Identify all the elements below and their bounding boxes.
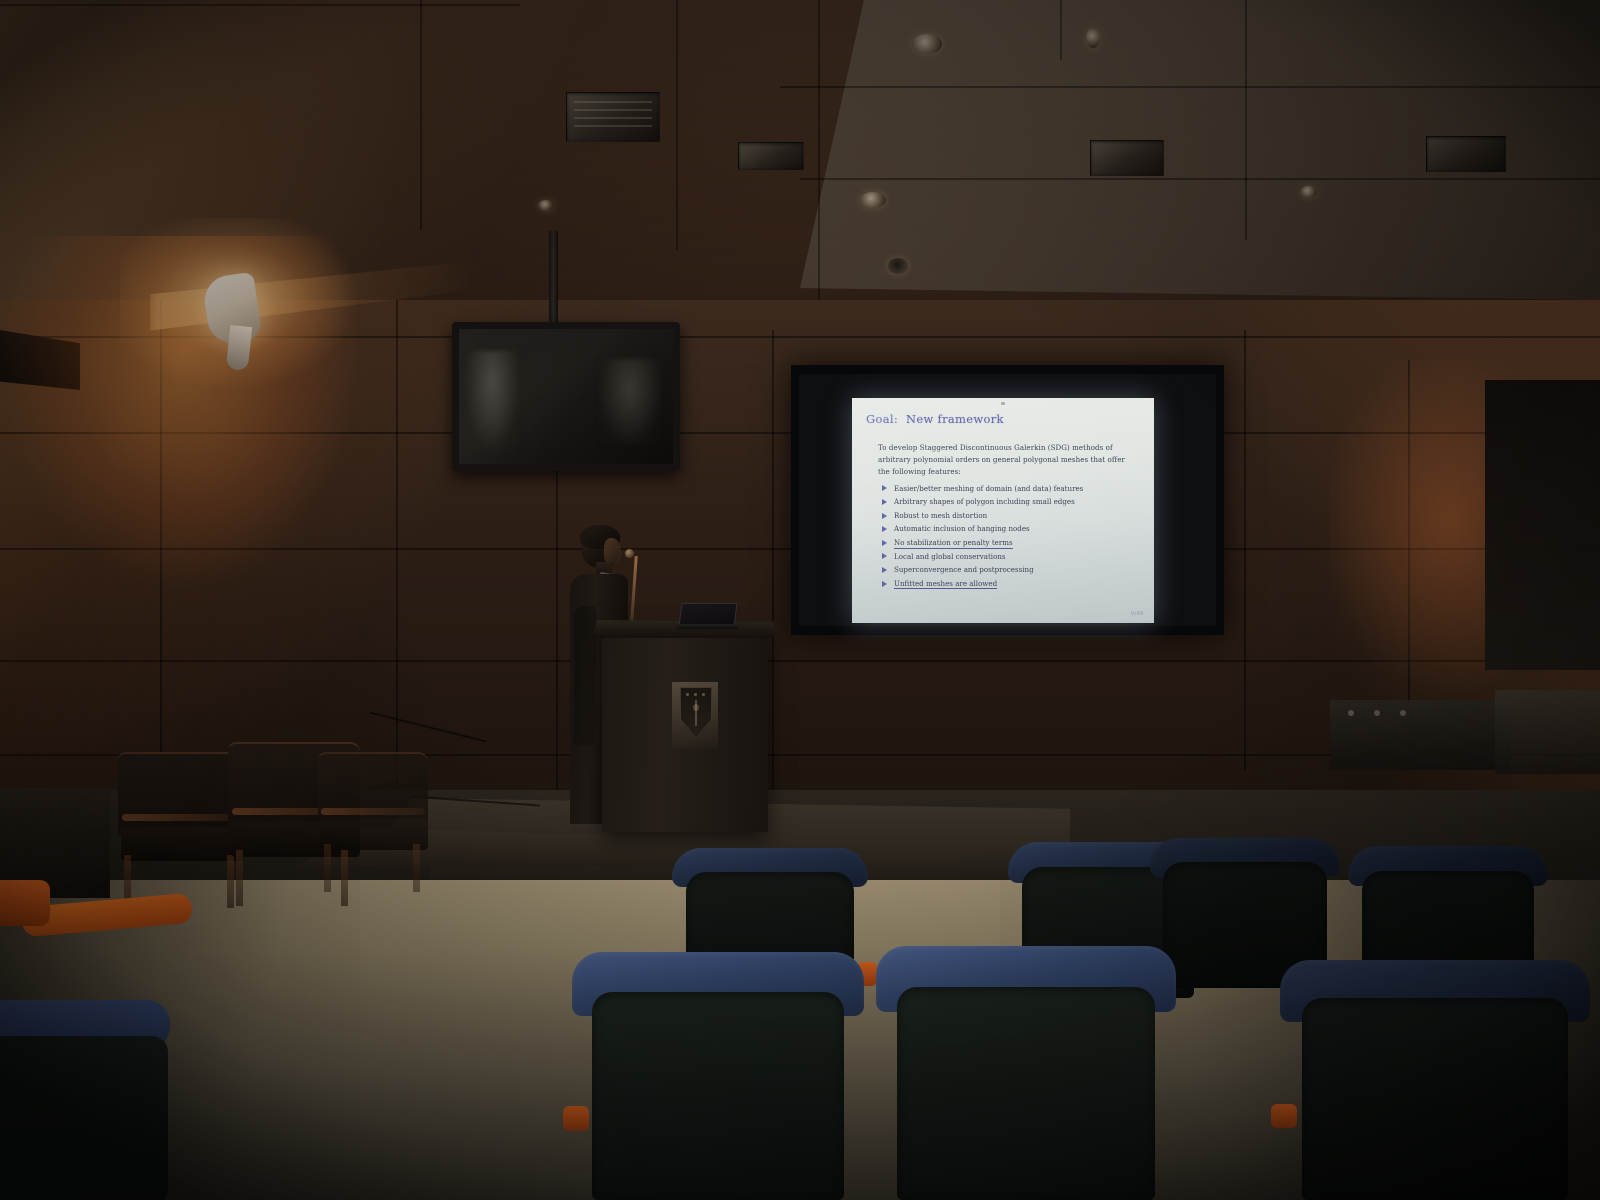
microphone-icon: [625, 549, 634, 558]
monitor-screen: [459, 329, 673, 464]
ceiling-vent-icon: [1090, 140, 1164, 176]
wall-seam: [1244, 330, 1246, 770]
triangle-right-icon: [882, 485, 887, 491]
slide-title-rest: New framework: [906, 412, 1004, 426]
bullet-text: Arbitrary shapes of polygon including sm…: [894, 497, 1075, 506]
ceiling-seam: [800, 178, 1600, 180]
ceiling-seam: [0, 4, 520, 6]
ceiling-seam: [420, 0, 422, 230]
crest-shield-icon: [680, 687, 712, 737]
ceiling-downlight-icon: [888, 258, 908, 274]
laptop-base: [676, 624, 739, 629]
lecture-hall-photo: Goal: New framework To develop Staggered…: [0, 0, 1600, 1200]
ceiling-seam: [818, 0, 820, 300]
slide-title: Goal: New framework: [866, 412, 1142, 426]
triangle-right-icon: [882, 499, 887, 505]
bullet-text: Local and global conservations: [894, 552, 1006, 561]
bullet-text: Automatic inclusion of hanging nodes: [894, 524, 1030, 533]
triangle-right-icon: [882, 526, 887, 532]
bullet-text: Robust to mesh distortion: [894, 511, 987, 520]
ceiling-seam: [1245, 0, 1247, 240]
slide-bullet-item: Unfitted meshes are allowed: [882, 577, 1142, 591]
slide-bullet-item: Automatic inclusion of hanging nodes: [882, 522, 1142, 536]
ceiling-seam: [1060, 0, 1062, 60]
presenter-arm: [574, 606, 596, 746]
ceiling-seam: [676, 0, 678, 250]
monitor-glare: [459, 329, 673, 464]
seat-armrest: [0, 880, 50, 926]
slide-title-label: Goal:: [866, 412, 898, 426]
wall-seam: [772, 330, 774, 790]
auditorium-seat: [876, 946, 1176, 1200]
slide-bullet-item: Easier/better meshing of domain (and dat…: [882, 482, 1142, 496]
slide-bullet-item: Local and global conservations: [882, 550, 1142, 564]
wall-seam: [396, 300, 398, 800]
slide-intro-text: To develop Staggered Discontinuous Galer…: [878, 442, 1136, 479]
side-cabinet: [1495, 690, 1600, 774]
ceiling-vent-icon: [566, 92, 660, 142]
ceiling-downlight-icon: [1300, 186, 1317, 198]
ceiling-downlight-icon: [860, 192, 886, 208]
bullet-text: No stabilization or penalty terms: [894, 538, 1013, 549]
slide-bullet-item: Robust to mesh distortion: [882, 509, 1142, 523]
presenter-face: [604, 538, 621, 564]
ceiling-vent-icon: [1426, 136, 1506, 172]
slide-page-indicator: 9/46: [1131, 611, 1144, 617]
university-crest: [672, 682, 718, 748]
presentation-slide: Goal: New framework To develop Staggered…: [852, 398, 1154, 623]
auditorium-seat: [0, 940, 190, 1200]
triangle-right-icon: [882, 567, 887, 573]
bullet-text: Easier/better meshing of domain (and dat…: [894, 484, 1083, 493]
auditorium-seat: [1280, 960, 1590, 1200]
auditorium-seat: [572, 952, 864, 1200]
wooden-chair: [318, 752, 428, 892]
ceiling-vent-icon: [738, 142, 804, 170]
slide-bullet-item: Arbitrary shapes of polygon including sm…: [882, 495, 1142, 509]
ceiling-downlight-icon: [1086, 28, 1100, 48]
ceiling-downlight-icon: [538, 200, 554, 211]
bullet-text: Superconvergence and postprocessing: [894, 565, 1034, 574]
bullet-text: Unfitted meshes are allowed: [894, 579, 997, 590]
wall-seam: [0, 660, 1600, 662]
wall-seam: [160, 300, 162, 800]
slide-bullet-item: Superconvergence and postprocessing: [882, 563, 1142, 577]
ceiling-downlight-icon: [912, 34, 942, 54]
slide-bullet-item: No stabilization or penalty terms: [882, 536, 1142, 550]
triangle-right-icon: [882, 553, 887, 559]
ceiling-monitor[interactable]: [452, 322, 680, 471]
ceiling-seam: [780, 86, 1600, 88]
wooden-chair: [118, 752, 244, 908]
monitor-mount-pole: [549, 231, 558, 335]
right-wall-dark-panel: [1485, 380, 1600, 670]
av-equipment-rack: [1330, 700, 1510, 770]
triangle-right-icon: [882, 513, 887, 519]
triangle-right-icon: [882, 581, 887, 587]
triangle-right-icon: [882, 540, 887, 546]
slide-bullet-list: Easier/better meshing of domain (and dat…: [866, 482, 1142, 591]
